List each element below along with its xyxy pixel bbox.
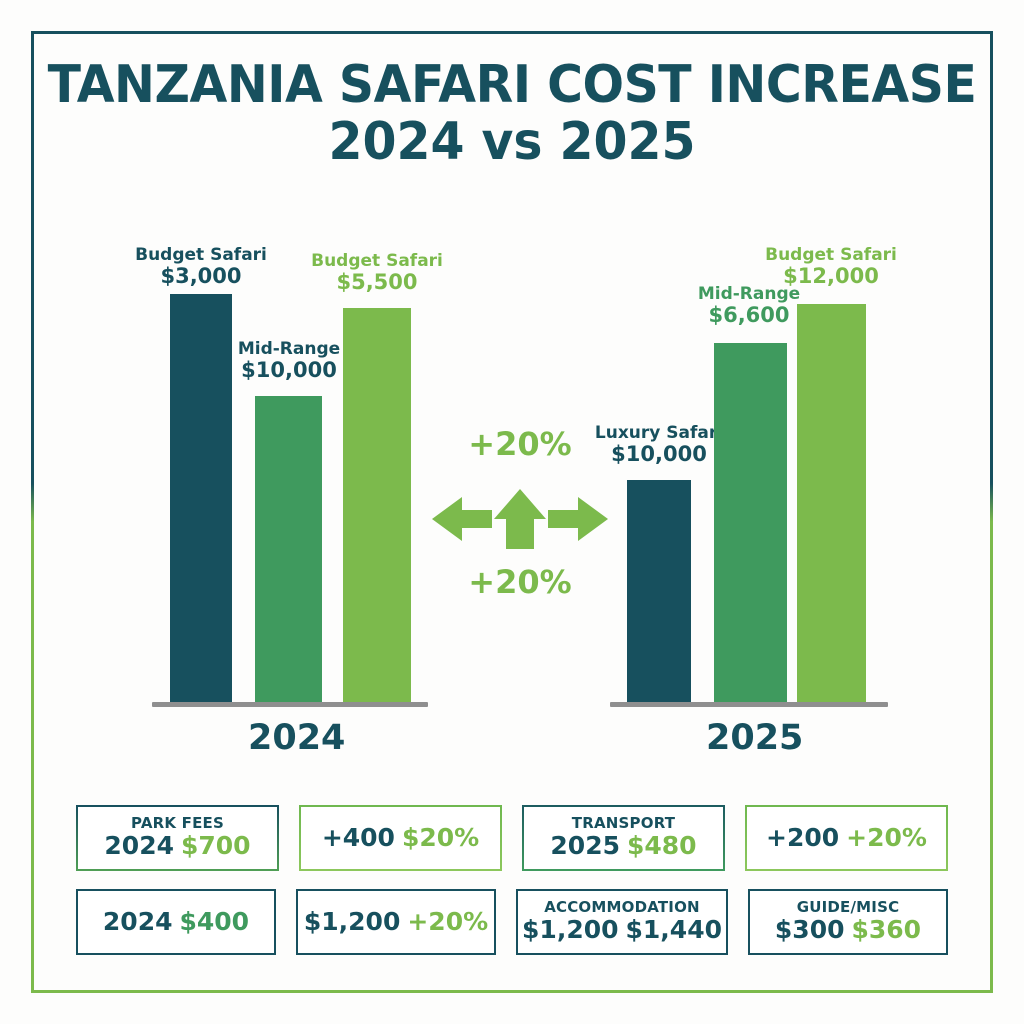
card-value-1: +200 [766,823,839,852]
card-values: $1,200+20% [304,908,488,937]
baseline-2025 [610,702,888,707]
card-value-2: $700 [181,831,251,860]
card-park-fees[interactable]: PARK FEES 2024$700 [76,805,279,871]
card-value-1: $1,200 [304,907,400,936]
percent-increase-top: +20% [430,425,610,463]
card-value-2: +20% [407,907,488,936]
arrow-up-icon [494,489,546,549]
bar-tier-name: Budget Safari [120,246,282,265]
card-value-2: +20% [846,823,927,852]
card-value-2: $480 [627,831,697,860]
year-label-2025: 2025 [706,718,803,758]
card-values: $300$360 [775,916,921,945]
arrows-svg [430,487,610,551]
card-header: PARK FEES [131,815,224,832]
bar-label-2025-budget: Budget Safari $12,000 [750,246,912,289]
bar-2025-budget [797,304,866,702]
card-values: 2024$400 [103,908,249,937]
card-header: GUIDE/MISC [797,899,900,916]
bar-tier-name: Budget Safari [296,252,458,271]
card-value-2: $400 [180,907,250,936]
bar-value: $3,000 [120,265,282,289]
card-value-1: $300 [775,915,845,944]
card-header: ACCOMMODATION [544,899,700,916]
card-transport[interactable]: TRANSPORT 2025$480 [522,805,725,871]
card-values: +200+20% [766,824,927,853]
arrow-left-icon [432,497,492,541]
card-value-2: $1,440 [626,915,722,944]
bar-2024-budget-green [343,308,411,702]
card-header: TRANSPORT [572,815,675,832]
card-values: $1,200$1,440 [522,916,722,945]
card-values: 2025$480 [550,832,696,861]
bar-2025-midrange [714,343,787,702]
card-value-1: $1,200 [522,915,618,944]
bar-2025-luxury [627,480,691,702]
arrow-right-icon [548,497,608,541]
card-value-1: +400 [322,823,395,852]
card-values: 2024$700 [104,832,250,861]
bar-tier-name: Budget Safari [750,246,912,265]
cost-breakdown-cards: PARK FEES 2024$700 +400$20% TRANSPORT 20… [76,805,948,973]
card-transport-change[interactable]: +200+20% [745,805,948,871]
card-values: +400$20% [322,824,479,853]
card-accommodation[interactable]: ACCOMMODATION $1,200$1,440 [516,889,728,955]
bar-value: $12,000 [750,265,912,289]
card-2024-baseline[interactable]: 2024$400 [76,889,276,955]
bar-label-2024-budget-green: Budget Safari $5,500 [296,252,458,295]
baseline-2024 [152,702,428,707]
card-row-1: PARK FEES 2024$700 +400$20% TRANSPORT 20… [76,805,948,871]
card-value-1: 2024 [103,907,173,936]
card-value-2: $20% [402,823,479,852]
infographic-canvas: TANZANIA SAFARI COST INCREASE 2024 vs 20… [0,0,1024,1024]
card-value-1: 2025 [550,831,620,860]
card-value-1: 2024 [104,831,174,860]
bar-2024-midrange [255,396,322,702]
year-label-2024: 2024 [248,718,345,758]
bar-label-2024-budget: Budget Safari $3,000 [120,246,282,289]
percent-increase-bottom: +20% [430,563,610,601]
center-change-indicator: +20% +20% [430,425,610,615]
card-guide-misc[interactable]: GUIDE/MISC $300$360 [748,889,948,955]
card-1200-change[interactable]: $1,200+20% [296,889,496,955]
card-park-fees-change[interactable]: +400$20% [299,805,502,871]
bar-value: $5,500 [296,271,458,295]
card-value-2: $360 [852,915,922,944]
card-row-2: 2024$400 $1,200+20% ACCOMMODATION $1,200… [76,889,948,955]
arrow-cluster [430,487,610,551]
